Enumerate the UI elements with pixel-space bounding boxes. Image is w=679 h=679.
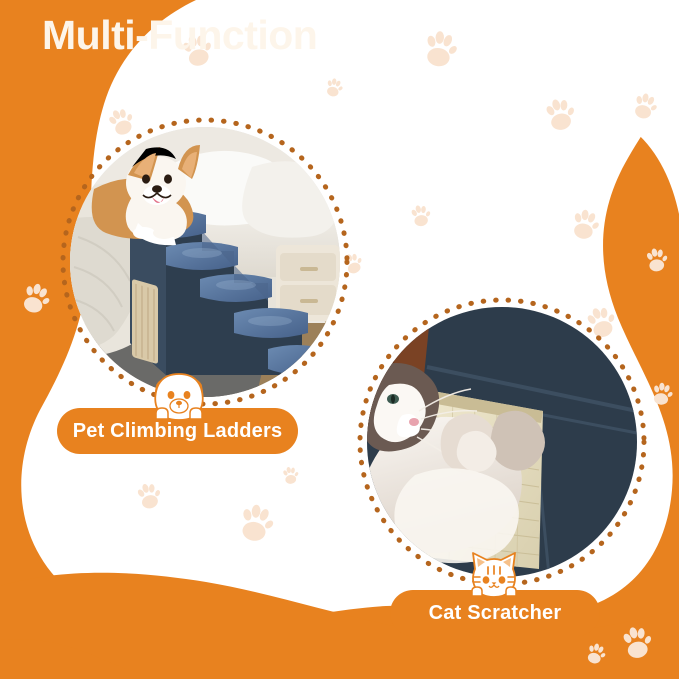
multi-function-poster: Multi-Function	[0, 0, 679, 679]
badge-label: Pet Climbing Ladders	[73, 420, 283, 443]
badge-pet-climbing-ladders[interactable]: Pet Climbing Ladders	[57, 408, 298, 454]
feature-photo-cat-scratcher[interactable]	[353, 293, 651, 591]
page-title: Multi-Function	[42, 12, 317, 59]
badge-label: Cat Scratcher	[429, 602, 562, 625]
photo-cat-scratching	[367, 307, 637, 577]
photo-dog-on-stairs	[70, 127, 340, 397]
feature-photo-pet-climbing-ladders[interactable]	[56, 113, 354, 411]
badge-cat-scratcher[interactable]: Cat Scratcher	[390, 590, 600, 636]
